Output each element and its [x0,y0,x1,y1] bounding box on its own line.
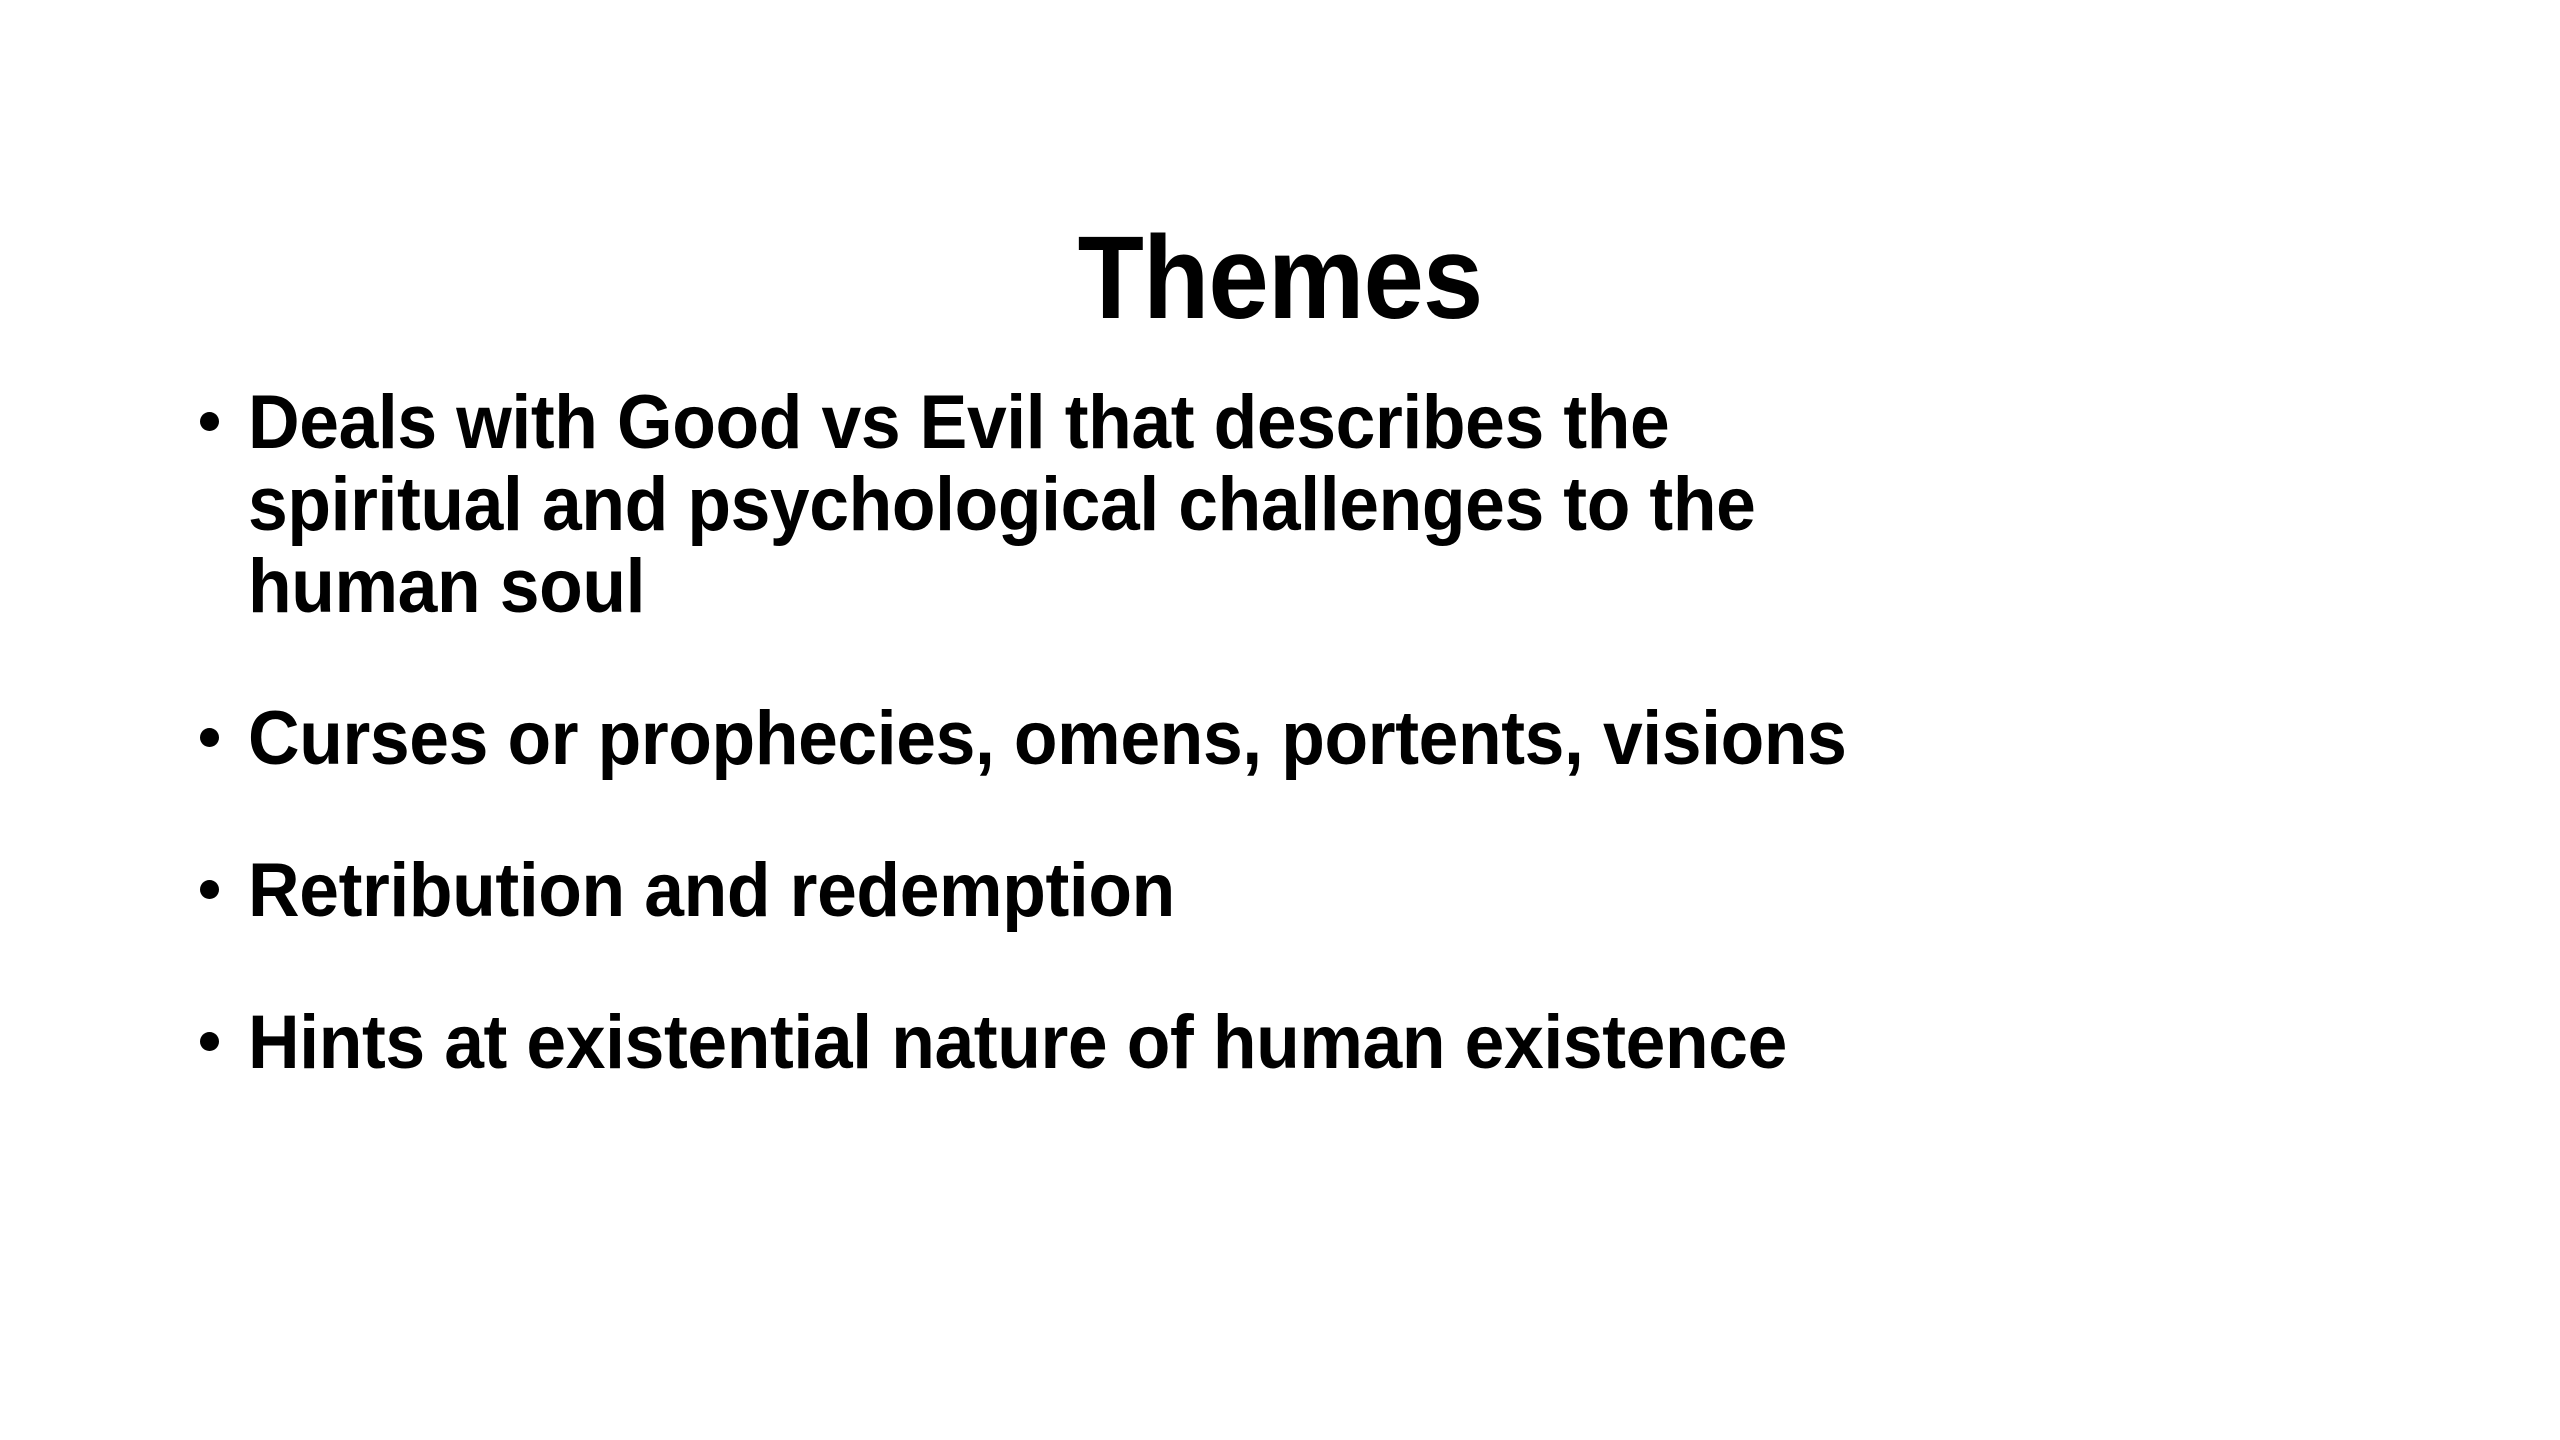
bullet-point-icon [200,1032,219,1051]
list-item: Deals with Good vs Evil that describes t… [196,382,2016,628]
list-item: Curses or prophecies, omens, portents, v… [196,698,2016,780]
list-item-label: Hints at existential nature of human exi… [248,1002,1910,1084]
list-item-label: Retribution and redemption [248,850,1910,932]
presentation-slide: Themes Deals with Good vs Evil that desc… [0,0,2560,1440]
list-item-label: Curses or prophecies, omens, portents, v… [248,698,1910,780]
list-item-label: Deals with Good vs Evil that describes t… [248,382,1910,628]
list-item: Retribution and redemption [196,850,2016,932]
bullet-point-icon [200,412,219,431]
bullet-point-icon [200,880,219,899]
list-item: Hints at existential nature of human exi… [196,1002,2016,1084]
page-title: Themes [102,219,2457,337]
bullet-point-icon [200,728,219,747]
bullet-list: Deals with Good vs Evil that describes t… [196,382,2016,1084]
